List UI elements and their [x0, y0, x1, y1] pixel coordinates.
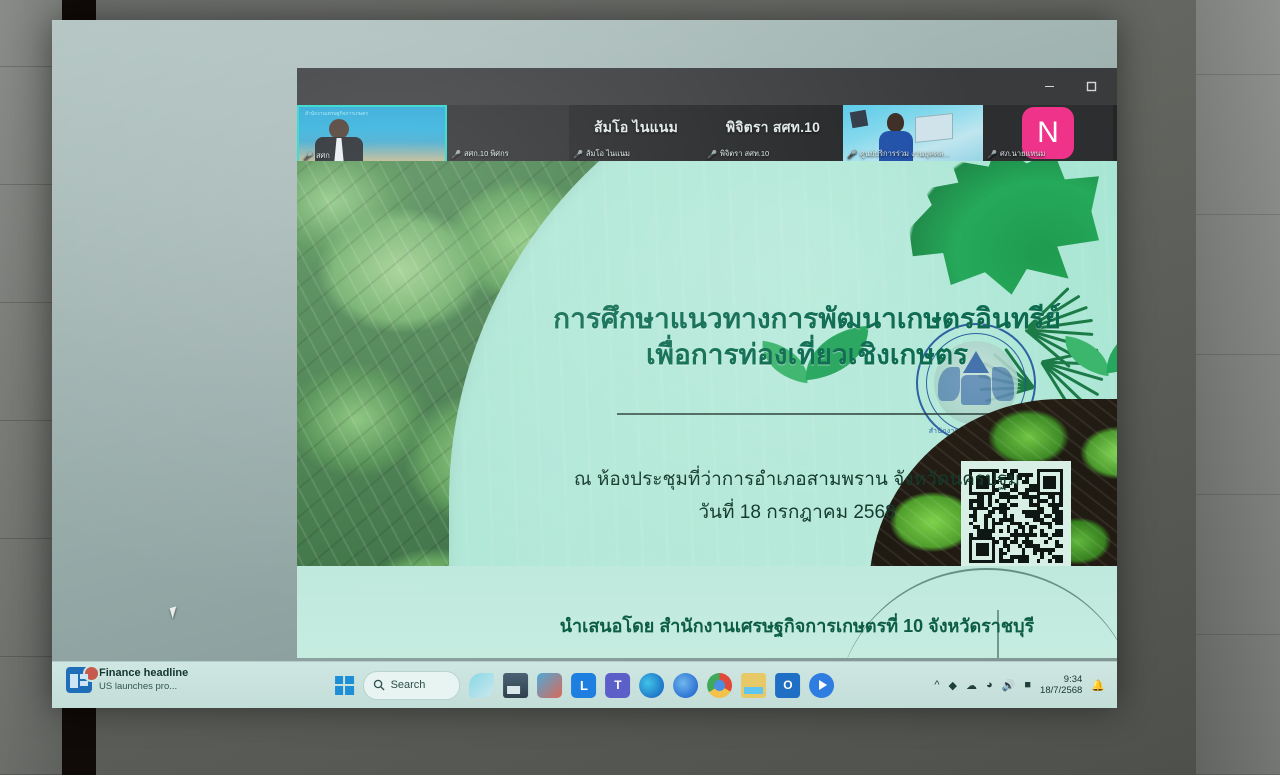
zoom-icon[interactable] — [673, 673, 698, 698]
slide-subtitle: ณ ห้องประชุมที่ว่าการอำเภอสามพราน จังหวั… — [447, 463, 1117, 530]
start-button[interactable] — [335, 676, 354, 695]
window-titlebar — [297, 68, 1117, 105]
slide-title: การศึกษาแนวทางการพัฒนาเกษตรอินทรีย์ เพื่… — [447, 301, 1117, 373]
microphone-icon: 🎤 — [451, 150, 461, 159]
news-text: Finance headline US launches pro... — [99, 667, 188, 693]
wall-right-panel — [1196, 0, 1280, 775]
battery-icon[interactable]: ■ — [1024, 679, 1031, 691]
volume-icon[interactable]: 🔊 — [1002, 679, 1016, 692]
participant-name: 🎤 พิจิตรา สศท.10 — [707, 148, 769, 160]
shared-screen-thumb — [850, 110, 869, 129]
notification-icon[interactable]: 🔔 — [1091, 679, 1105, 692]
microphone-icon: 🎤 — [987, 150, 997, 159]
tray-chevron-icon[interactable]: ^ — [934, 679, 939, 691]
shared-screen-thumb — [915, 113, 953, 143]
participant-speaking-name: พิจิตรา สศท.10 — [726, 117, 820, 139]
microsoft-store-icon[interactable] — [537, 673, 562, 698]
windows-taskbar[interactable]: Finance headline US launches pro... Sear… — [52, 661, 1117, 708]
minimize-icon[interactable] — [1029, 72, 1069, 100]
person-head — [887, 113, 904, 132]
outlook-icon[interactable]: O — [775, 673, 800, 698]
window-controls — [1029, 72, 1117, 100]
onedrive-icon[interactable]: ☁ — [966, 679, 977, 692]
clock[interactable]: 9:34 18/7/2568 — [1040, 674, 1082, 697]
search-icon — [373, 679, 385, 691]
system-tray[interactable]: ^ ◆ ☁ ◕ 🔊 ■ 9:34 18/7/2568 🔔 — [934, 662, 1105, 708]
microphone-icon: 🎤 — [303, 152, 313, 161]
person-head — [329, 119, 349, 139]
slide-presenter: นำเสนอโดย สำนักงานเศรษฐกิจการเกษตรที่ 10… — [437, 611, 1117, 640]
taskbar-center: Search L T O — [335, 662, 835, 708]
participant-filmstrip[interactable]: สำนักงานเศรษฐกิจการเกษตร 🎤 สศก 🎤 สศก.10 … — [297, 105, 1117, 161]
slide-date: วันที่ 18 กรกฎาคม 2568 — [447, 496, 1117, 529]
notification-dot — [83, 665, 100, 682]
line-icon[interactable]: L — [571, 673, 596, 698]
google-meet-icon[interactable] — [809, 673, 834, 698]
copilot-icon[interactable] — [469, 673, 494, 698]
news-icon — [66, 667, 92, 693]
participant-tile[interactable]: 🎤 ศูนย์บริการร่วม งานบุคคล... — [843, 105, 983, 161]
slide-title-line-1: การศึกษาแนวทางการพัฒนาเกษตรอินทรีย์ — [447, 301, 1117, 337]
teams-icon[interactable]: T — [605, 673, 630, 698]
participant-tile[interactable]: สำนักงานเศรษฐกิจการเกษตร 🎤 สศก — [297, 105, 447, 165]
microphone-icon: 🎤 — [847, 150, 857, 159]
news-headline: Finance headline — [99, 667, 188, 681]
wifi-icon[interactable]: ◕ — [986, 679, 993, 691]
close-icon[interactable] — [1113, 72, 1117, 100]
presentation-slide[interactable]: สำนักงานเศรษฐกิจการเกษตร การศึกษาแนวทางก… — [297, 161, 1117, 658]
clock-date: 18/7/2568 — [1040, 685, 1082, 696]
windows-desktop: สำนักงานเศรษฐกิจการเกษตร 🎤 สศก 🎤 สศก.10 … — [52, 20, 1117, 708]
participant-name: 🎤 ศูนย์บริการร่วม งานบุคคล... — [847, 148, 950, 160]
participant-name: 🎤 ส้มโอ ไนแนม — [573, 148, 630, 160]
slide-venue: ณ ห้องประชุมที่ว่าการอำเภอสามพราน จังหวั… — [447, 463, 1117, 496]
video-meeting-window[interactable]: สำนักงานเศรษฐกิจการเกษตร 🎤 สศก 🎤 สศก.10 … — [297, 68, 1117, 658]
mouse-cursor — [170, 606, 180, 619]
participant-tile[interactable]: 🎤 สศก.10 พิศกร — [447, 105, 569, 161]
meeting-room-scene: สำนักงานเศรษฐกิจการเกษตร 🎤 สศก 🎤 สศก.10 … — [0, 0, 1280, 775]
participant-tile[interactable]: พิจิตรา สศท.10 🎤 พิจิตรา สศท.10 — [703, 105, 843, 161]
folder-icon[interactable] — [741, 673, 766, 698]
participant-name: 🎤 สศก.10 พิศกร — [451, 148, 509, 160]
language-indicator[interactable]: ◆ — [949, 679, 957, 692]
microphone-icon: 🎤 — [707, 150, 717, 159]
file-explorer-icon[interactable] — [503, 673, 528, 698]
search-label: Search — [391, 679, 426, 691]
microphone-icon: 🎤 — [573, 150, 583, 159]
participant-name: 🎤 ศภ.นายแหนม — [987, 148, 1045, 160]
chrome-icon[interactable] — [707, 673, 732, 698]
search-input[interactable]: Search — [363, 671, 461, 700]
news-subline: US launches pro... — [99, 681, 188, 693]
participant-tile[interactable]: N 🎤 ศภ.นายแหนม — [983, 105, 1113, 161]
projection-screen: สำนักงานเศรษฐกิจการเกษตร 🎤 สศก 🎤 สศก.10 … — [52, 20, 1117, 708]
participant-tile[interactable]: ส้มโอ ไนแนม 🎤 ส้มโอ ไนแนม — [569, 105, 703, 161]
slide-title-line-2: เพื่อการท่องเที่ยวเชิงเกษตร — [447, 337, 1117, 373]
participant-speaking-name: ส้มโอ ไนแนม — [594, 117, 678, 139]
maximize-icon[interactable] — [1071, 72, 1111, 100]
edge-icon[interactable] — [639, 673, 664, 698]
clock-time: 9:34 — [1040, 674, 1082, 685]
news-widget[interactable]: Finance headline US launches pro... — [66, 667, 188, 693]
participant-overlay-title: สำนักงานเศรษฐกิจการเกษตร — [305, 110, 368, 118]
